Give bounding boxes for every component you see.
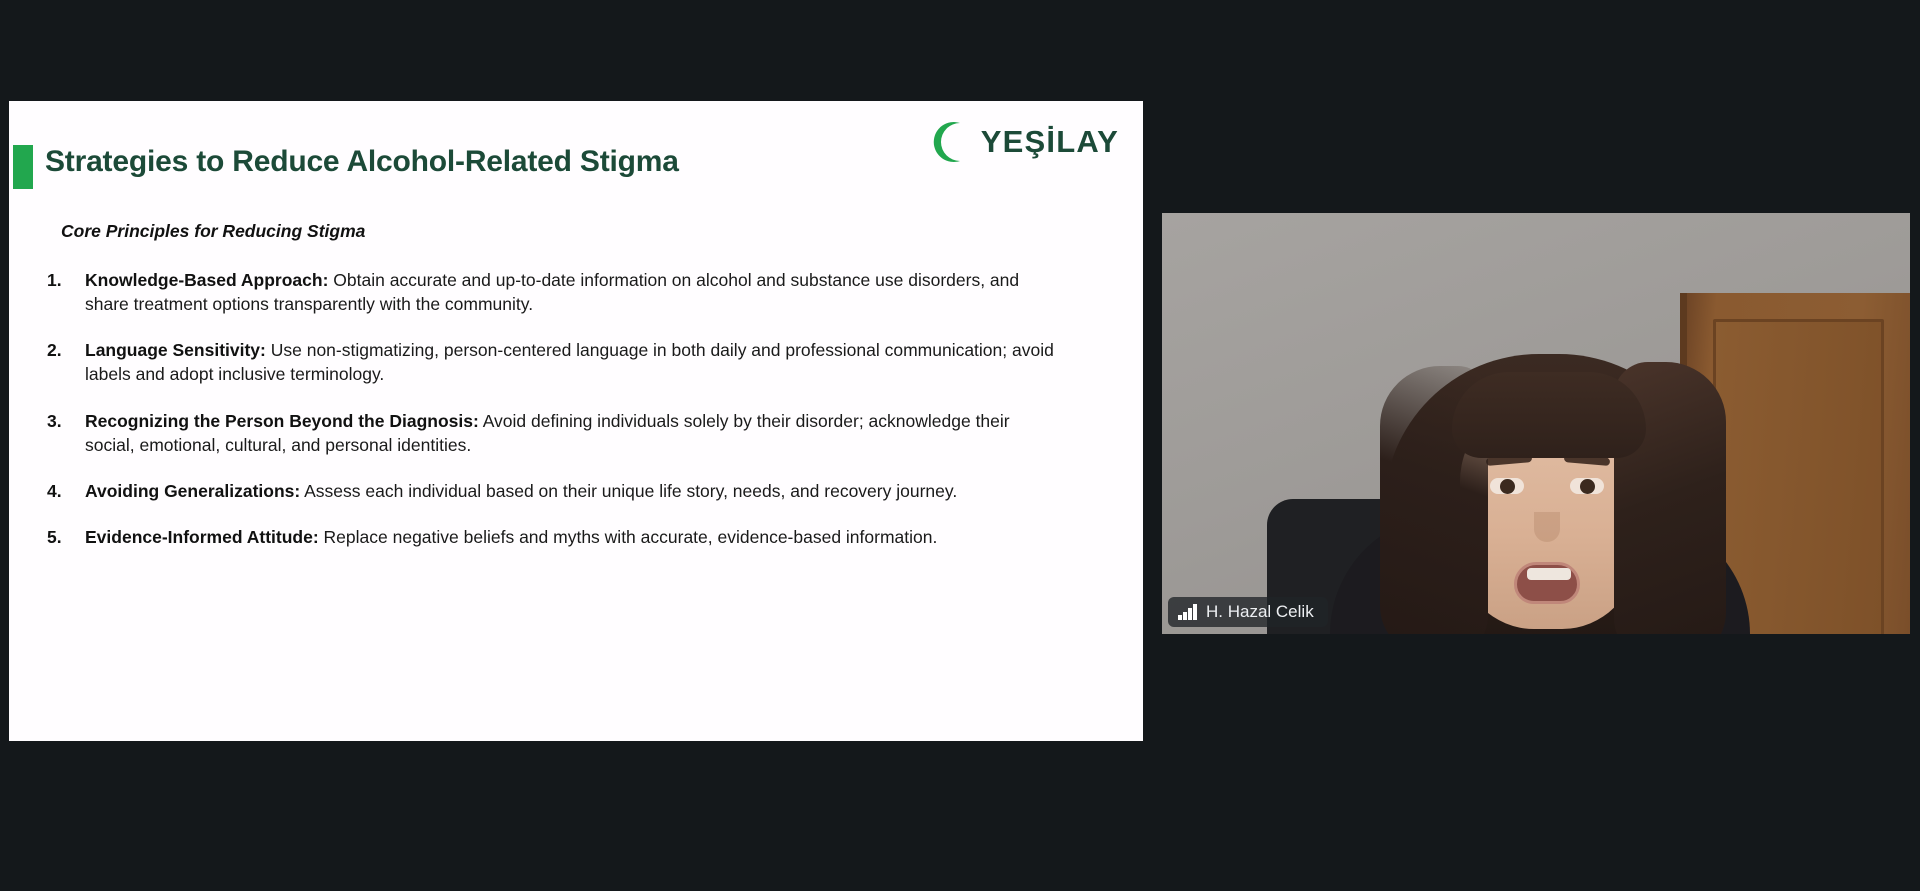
- list-item-number: 1.: [47, 268, 62, 292]
- page-title: Strategies to Reduce Alcohol-Related Sti…: [45, 145, 679, 179]
- person-eye-left: [1490, 478, 1524, 494]
- list-item-number: 3.: [47, 409, 62, 433]
- logo-text: YEŞİLAY: [981, 124, 1119, 160]
- list-item: 3. Recognizing the Person Beyond the Dia…: [47, 409, 1057, 457]
- person-mouth: [1514, 562, 1580, 604]
- person-hair-fringe: [1452, 372, 1646, 458]
- list-item-text: Assess each individual based on their un…: [300, 481, 957, 501]
- list-item-term: Avoiding Generalizations:: [85, 481, 300, 501]
- yesilay-logo: YEŞİLAY: [925, 119, 1119, 165]
- list-item-number: 5.: [47, 525, 62, 549]
- participant-name: H. Hazal Celik: [1206, 602, 1314, 622]
- slide-subtitle: Core Principles for Reducing Stigma: [61, 221, 1105, 242]
- list-item-term: Recognizing the Person Beyond the Diagno…: [85, 411, 479, 431]
- list-item: 1. Knowledge-Based Approach: Obtain accu…: [47, 268, 1057, 316]
- list-item-text: Replace negative beliefs and myths with …: [319, 527, 938, 547]
- person-teeth: [1527, 568, 1571, 580]
- list-item: 5. Evidence-Informed Attitude: Replace n…: [47, 525, 1057, 549]
- slide-body: Core Principles for Reducing Stigma 1. K…: [9, 209, 1143, 741]
- list-item: 2. Language Sensitivity: Use non-stigmat…: [47, 338, 1057, 386]
- principles-list: 1. Knowledge-Based Approach: Obtain accu…: [47, 268, 1105, 549]
- list-item-number: 4.: [47, 479, 62, 503]
- slide-header: Strategies to Reduce Alcohol-Related Sti…: [9, 101, 1143, 209]
- list-item: 4. Avoiding Generalizations: Assess each…: [47, 479, 1057, 503]
- list-item-term: Evidence-Informed Attitude:: [85, 527, 319, 547]
- list-item-number: 2.: [47, 338, 62, 362]
- meeting-screen: Strategies to Reduce Alcohol-Related Sti…: [0, 0, 1920, 891]
- list-item-term: Knowledge-Based Approach:: [85, 270, 328, 290]
- crescent-moon-icon: [925, 119, 971, 165]
- presentation-slide: Strategies to Reduce Alcohol-Related Sti…: [9, 101, 1143, 741]
- participant-person: [1162, 244, 1910, 634]
- signal-bars-icon: [1178, 604, 1198, 620]
- title-accent-bar: [13, 145, 33, 189]
- participant-name-badge: H. Hazal Celik: [1168, 597, 1328, 627]
- person-nose: [1534, 512, 1560, 542]
- participant-video-tile[interactable]: H. Hazal Celik: [1162, 213, 1910, 634]
- person-eye-right: [1570, 478, 1604, 494]
- list-item-term: Language Sensitivity:: [85, 340, 266, 360]
